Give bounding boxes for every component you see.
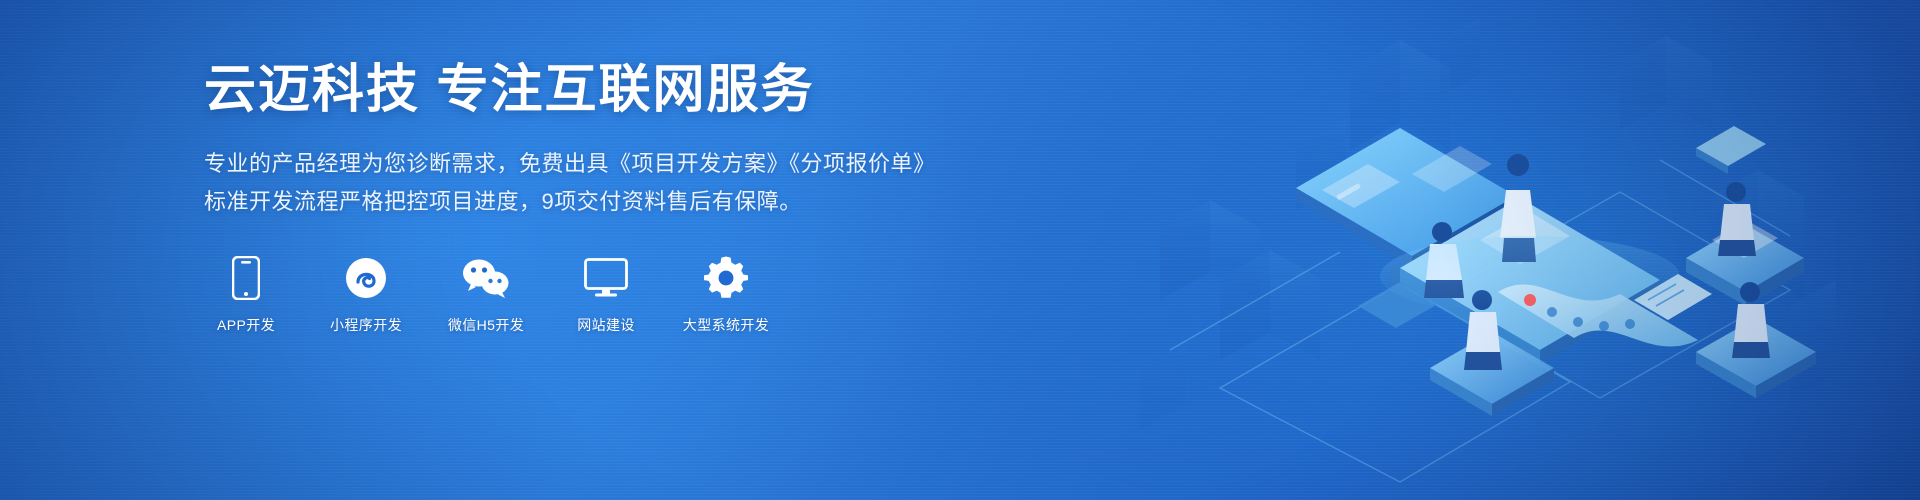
service-list: APP开发 小程序开发	[204, 255, 1124, 335]
banner-subtitle: 专业的产品经理为您诊断需求，免费出具《项目开发方案》《分项报价单》 标准开发流程…	[204, 145, 1124, 221]
mini-program-icon	[345, 255, 387, 301]
illustration-artwork	[1100, 0, 1920, 500]
gear-icon	[704, 255, 748, 301]
subtitle-line-2: 标准开发流程严格把控项目进度，9项交付资料售后有保障。	[204, 183, 1124, 221]
service-label: 网站建设	[577, 315, 635, 335]
mobile-phone-icon	[232, 255, 260, 301]
service-label: 微信H5开发	[448, 315, 524, 335]
monitor-icon	[584, 255, 628, 301]
service-item-website[interactable]: 网站建设	[564, 255, 648, 335]
service-label: 大型系统开发	[683, 315, 769, 335]
service-label: APP开发	[217, 315, 275, 335]
service-item-mini-program[interactable]: 小程序开发	[324, 255, 408, 335]
hero-banner: 云迈科技 专注互联网服务 专业的产品经理为您诊断需求，免费出具《项目开发方案》《…	[0, 0, 1920, 500]
subtitle-line-1: 专业的产品经理为您诊断需求，免费出具《项目开发方案》《分项报价单》	[204, 145, 1124, 183]
wechat-icon	[462, 255, 510, 301]
service-item-wechat-h5[interactable]: 微信H5开发	[444, 255, 528, 335]
page-title: 云迈科技 专注互联网服务	[204, 62, 1124, 119]
banner-content: 云迈科技 专注互联网服务 专业的产品经理为您诊断需求，免费出具《项目开发方案》《…	[204, 62, 1124, 335]
service-item-large-system[interactable]: 大型系统开发	[684, 255, 768, 335]
service-item-app[interactable]: APP开发	[204, 255, 288, 335]
service-label: 小程序开发	[330, 315, 402, 335]
